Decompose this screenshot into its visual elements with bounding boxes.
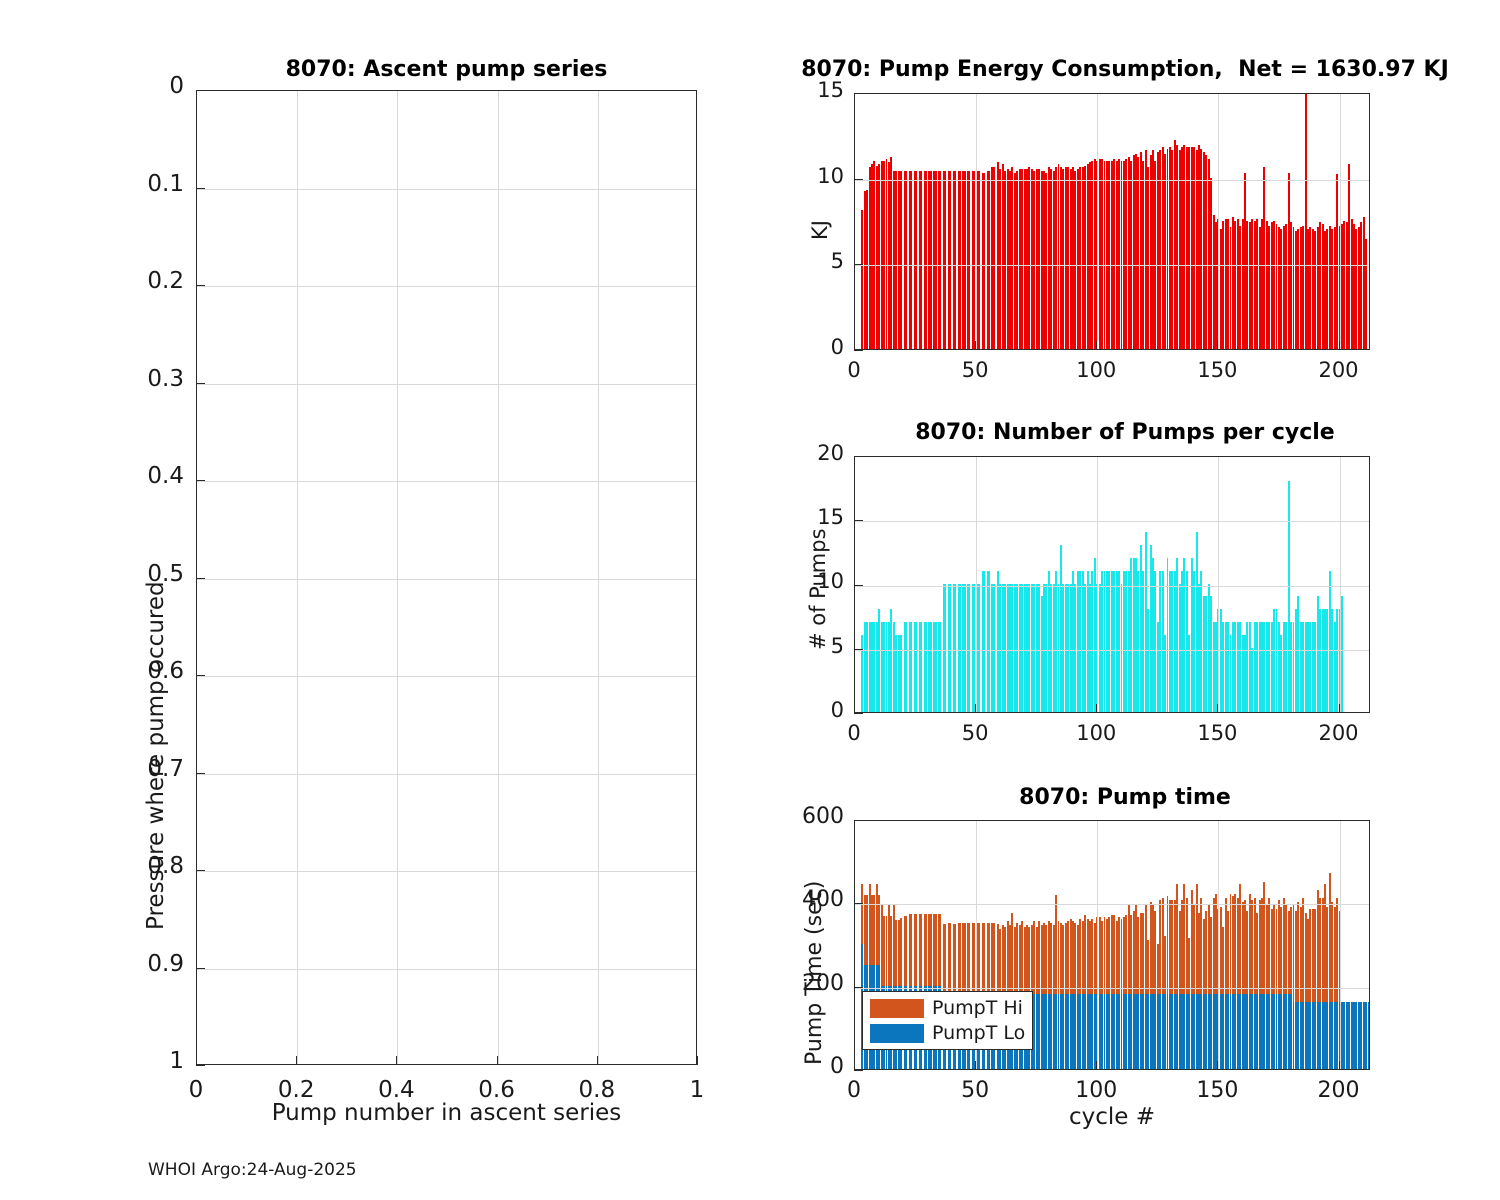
bar	[958, 584, 961, 713]
xtick-label: 50	[915, 1078, 1035, 1103]
footer-credit: WHOI Argo:24-Aug-2025	[148, 1160, 357, 1180]
ytick-mark	[854, 179, 863, 180]
bar-segment	[967, 923, 970, 994]
bar	[987, 171, 990, 349]
gridline-horizontal	[855, 904, 1369, 905]
ytick-label: 1	[64, 1048, 184, 1074]
energy-axes	[854, 93, 1370, 350]
bar-segment	[1368, 1002, 1370, 1069]
xtick-mark	[1339, 1061, 1340, 1070]
xtick-mark	[975, 341, 976, 350]
bar	[977, 171, 980, 349]
xtick-label: 200	[1279, 1078, 1399, 1103]
bar	[943, 171, 946, 349]
xtick-mark	[975, 1061, 976, 1070]
ytick-mark	[196, 773, 205, 774]
panel-pump-energy: 8070: Pump Energy Consumption, Net = 163…	[750, 0, 1500, 400]
bar	[900, 635, 902, 712]
bar-segment	[972, 923, 975, 994]
gridline-vertical	[1340, 94, 1341, 349]
legend-label: PumpT Lo	[932, 1022, 1025, 1044]
ytick-mark	[854, 520, 863, 521]
ytick-mark	[854, 93, 863, 94]
bar	[943, 584, 946, 713]
bar-segment	[919, 914, 922, 986]
gridline-vertical	[1097, 821, 1098, 1069]
bar-segment	[928, 914, 931, 986]
pumps-axes	[854, 456, 1370, 713]
ytick-label: 20	[724, 441, 844, 465]
bar-segment	[953, 924, 956, 994]
xtick-mark	[1217, 1061, 1218, 1070]
bar-segment	[904, 916, 907, 986]
gridline-horizontal	[855, 988, 1369, 989]
bar-segment	[943, 924, 946, 994]
ytick-label: 0.3	[64, 366, 184, 392]
bar-segment	[909, 914, 912, 986]
xtick-mark	[854, 704, 855, 713]
ytick-mark	[196, 188, 205, 189]
bar	[953, 171, 956, 349]
xtick-mark	[396, 1056, 397, 1065]
bar-segment	[924, 914, 927, 986]
legend-swatch-lo	[870, 1024, 924, 1043]
bar-segment	[914, 914, 917, 986]
ytick-mark	[854, 987, 863, 988]
xtick-mark	[1096, 1061, 1097, 1070]
bar	[958, 171, 961, 349]
bar-segment	[962, 923, 965, 994]
xtick-mark	[1339, 704, 1340, 713]
gridline-vertical	[297, 91, 298, 1064]
gridline-horizontal	[197, 286, 696, 287]
bar	[948, 171, 951, 349]
ytick-mark	[854, 585, 863, 586]
xtick-mark	[597, 1056, 598, 1065]
bar	[987, 571, 990, 712]
gridline-horizontal	[197, 481, 696, 482]
bar	[991, 584, 994, 713]
ascent-axes	[196, 90, 697, 1065]
ytick-mark	[854, 649, 863, 650]
gridline-vertical	[1340, 457, 1341, 712]
bar	[982, 571, 985, 712]
bar	[914, 171, 917, 349]
bar	[962, 584, 965, 713]
ytick-mark	[196, 383, 205, 384]
gridline-vertical	[976, 94, 977, 349]
bar-segment	[938, 914, 941, 986]
panel-pump-time: 8070: Pump time PumpT HiPumpT Lo 0200400…	[750, 720, 1500, 1200]
xtick-mark	[1096, 704, 1097, 713]
ytick-mark	[854, 903, 863, 904]
bar-segment	[987, 923, 990, 994]
bar-segment	[948, 923, 951, 994]
bar	[1365, 239, 1367, 349]
ytick-mark	[196, 870, 205, 871]
pumptime-ylabel: Pump Time (sec)	[802, 881, 827, 1065]
ytick-label: 600	[724, 804, 844, 829]
bar-segment	[982, 923, 985, 994]
gridline-horizontal	[197, 871, 696, 872]
legend-swatch-hi	[870, 999, 924, 1018]
ytick-label: 0	[724, 698, 844, 722]
ytick-label: 0.9	[64, 951, 184, 977]
ytick-mark	[854, 456, 863, 457]
bar	[982, 173, 985, 349]
xtick-mark	[497, 1056, 498, 1065]
energy-bars	[855, 94, 1369, 349]
figure-root: 8070: Ascent pump series 00.10.20.30.40.…	[0, 0, 1500, 1200]
bar	[904, 171, 907, 349]
ascent-xlabel: Pump number in ascent series	[196, 1100, 697, 1126]
xtick-mark	[975, 704, 976, 713]
gridline-horizontal	[197, 676, 696, 677]
energy-ylabel: KJ	[808, 220, 832, 240]
xtick-mark	[1096, 341, 1097, 350]
xtick-mark	[296, 1056, 297, 1065]
bar	[928, 622, 931, 712]
gridline-horizontal	[197, 969, 696, 970]
bar	[938, 622, 941, 712]
bar	[900, 171, 902, 349]
xtick-mark	[697, 1056, 698, 1065]
bar	[1341, 596, 1343, 712]
gridline-horizontal	[855, 650, 1369, 651]
bar	[924, 622, 927, 712]
ascent-title: 8070: Ascent pump series	[196, 57, 697, 82]
xtick-label: 150	[1157, 1078, 1277, 1103]
gridline-horizontal	[197, 384, 696, 385]
xtick-mark	[854, 341, 855, 350]
ytick-label: 5	[724, 249, 844, 273]
gridline-vertical	[498, 91, 499, 1064]
gridline-vertical	[1218, 821, 1219, 1069]
bar	[914, 622, 917, 712]
bar	[933, 622, 936, 712]
bar	[967, 171, 970, 349]
ytick-label: 15	[724, 78, 844, 102]
gridline-vertical	[976, 457, 977, 712]
gridline-vertical	[397, 91, 398, 1064]
pumptime-title: 8070: Pump time	[760, 785, 1490, 810]
xtick-mark	[854, 1061, 855, 1070]
energy-title: 8070: Pump Energy Consumption, Net = 163…	[760, 57, 1490, 82]
ytick-mark	[196, 480, 205, 481]
bar	[967, 584, 970, 713]
pumptime-xlabel: cycle #	[854, 1104, 1370, 1130]
pumptime-axes: PumpT HiPumpT Lo	[854, 820, 1370, 1070]
bar	[977, 584, 980, 713]
bar	[991, 167, 994, 349]
bar	[928, 171, 931, 349]
bar-segment	[977, 923, 980, 994]
bar	[953, 584, 956, 713]
gridline-vertical	[1340, 821, 1341, 1069]
bar-segment	[933, 914, 936, 986]
pumps-title: 8070: Number of Pumps per cycle	[760, 420, 1490, 445]
bar	[924, 171, 927, 349]
ytick-label: 0.2	[64, 268, 184, 294]
gridline-horizontal	[855, 180, 1369, 181]
bar	[938, 171, 941, 349]
ytick-mark	[196, 285, 205, 286]
pumptime-legend: PumpT HiPumpT Lo	[862, 991, 1033, 1050]
ytick-mark	[854, 350, 863, 351]
gridline-vertical	[1218, 457, 1219, 712]
ytick-label: 0	[64, 73, 184, 99]
ytick-mark	[196, 1065, 205, 1066]
gridline-vertical	[1097, 94, 1098, 349]
ytick-mark	[854, 1070, 863, 1071]
ytick-mark	[196, 968, 205, 969]
ytick-label: 0	[724, 335, 844, 359]
bar	[962, 171, 965, 349]
legend-label: PumpT Hi	[932, 997, 1023, 1019]
pumps-ylabel: # of Pumps	[806, 528, 830, 650]
bar-segment	[900, 918, 902, 986]
xtick-mark	[196, 1056, 197, 1065]
ytick-mark	[854, 713, 863, 714]
ytick-label: 0.4	[64, 463, 184, 489]
legend-row: PumpT Lo	[870, 1022, 1025, 1044]
gridline-horizontal	[197, 189, 696, 190]
xtick-mark	[1217, 341, 1218, 350]
bar	[948, 584, 951, 713]
ytick-label: 0.1	[64, 171, 184, 197]
panel-pumps-per-cycle: 8070: Number of Pumps per cycle 05101520…	[750, 360, 1500, 760]
bar	[919, 171, 922, 349]
xtick-label: 0	[794, 1078, 914, 1103]
xtick-label: 100	[1036, 1078, 1156, 1103]
ytick-mark	[196, 90, 205, 91]
xtick-mark	[1217, 704, 1218, 713]
ytick-label: 15	[724, 505, 844, 529]
gridline-horizontal	[855, 521, 1369, 522]
gridline-vertical	[1097, 457, 1098, 712]
gridline-horizontal	[197, 774, 696, 775]
legend-row: PumpT Hi	[870, 997, 1025, 1019]
gridline-vertical	[1218, 94, 1219, 349]
bar	[972, 171, 975, 349]
bar	[909, 171, 912, 349]
ytick-mark	[196, 578, 205, 579]
gridline-horizontal	[855, 265, 1369, 266]
xtick-mark	[1339, 341, 1340, 350]
bar-segment	[991, 923, 994, 994]
bar	[904, 622, 907, 712]
bar	[972, 584, 975, 713]
bar	[933, 171, 936, 349]
ytick-mark	[854, 264, 863, 265]
gridline-vertical	[598, 91, 599, 1064]
gridline-horizontal	[197, 579, 696, 580]
pumps-bars	[855, 457, 1369, 712]
bar	[909, 622, 912, 712]
panel-ascent-pump-series: 8070: Ascent pump series 00.10.20.30.40.…	[0, 0, 750, 1200]
bar-segment	[958, 923, 961, 994]
ascent-ylabel: Pressure where pump occured	[143, 581, 169, 930]
ytick-mark	[196, 675, 205, 676]
gridline-horizontal	[855, 586, 1369, 587]
ytick-label: 10	[724, 164, 844, 188]
ytick-mark	[854, 820, 863, 821]
bar	[919, 622, 922, 712]
